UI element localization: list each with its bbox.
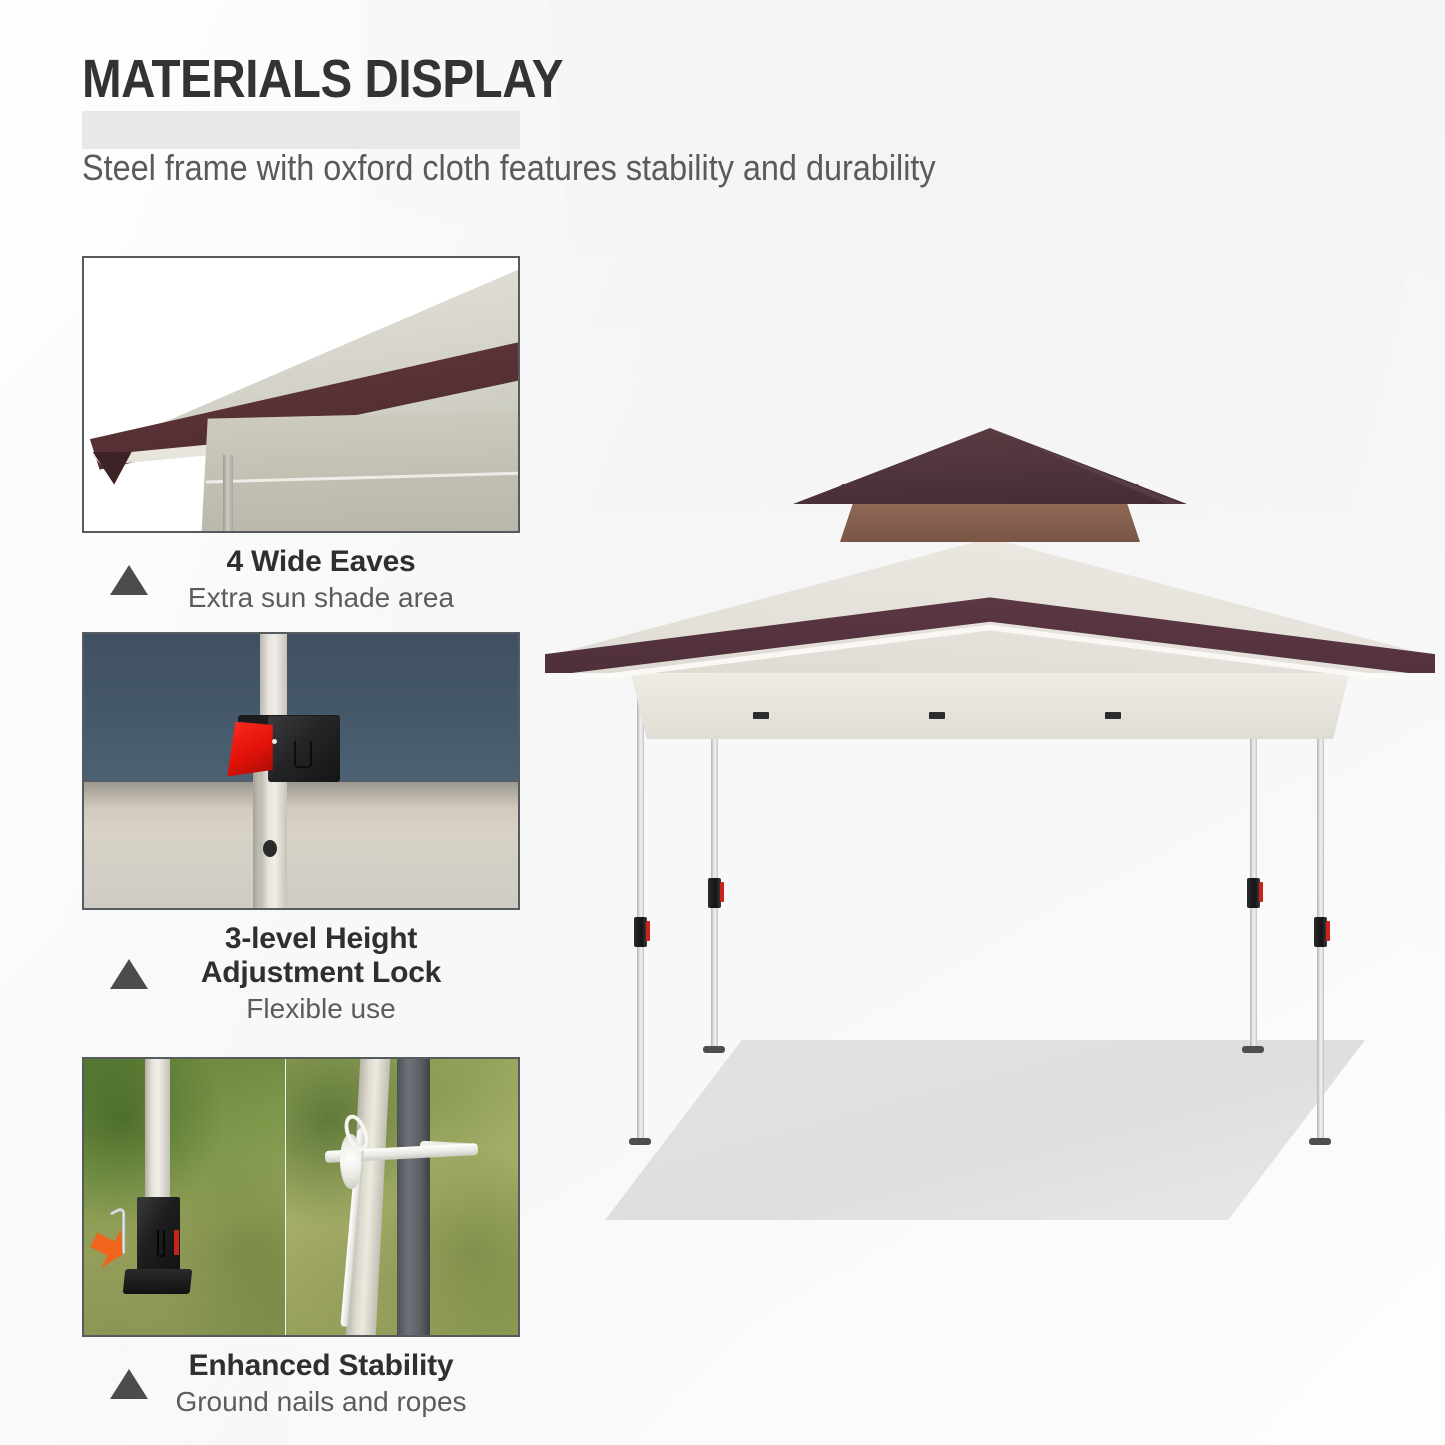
gazebo-leg-dark: [397, 1059, 430, 1335]
triangle-bullet-icon: [110, 959, 148, 989]
leg-front-right: [1317, 682, 1324, 1144]
caption-row: 4 Wide Eaves Extra sun shade area: [82, 545, 520, 615]
caption-text: 3-level Height Adjustment Lock Flexible …: [156, 922, 520, 1026]
leg-foot-front-left: [629, 1138, 651, 1145]
feature-title: Enhanced Stability: [156, 1349, 486, 1383]
valance-tab: [1105, 712, 1121, 719]
leg-foot-back-left: [703, 1046, 725, 1053]
leg-lock-clip-front-left: [634, 917, 647, 947]
canopy-eave-photo: [82, 256, 520, 533]
feature-height-lock: 3-level Height Adjustment Lock Flexible …: [82, 632, 520, 1026]
leg-lock-clip-back-left: [708, 878, 721, 908]
triangle-bullet-icon: [110, 1369, 148, 1399]
caption-row: Enhanced Stability Ground nails and rope…: [82, 1349, 520, 1419]
foot-bracket-slot: [157, 1230, 166, 1257]
height-lock-photo: [82, 632, 520, 910]
caption-row: 3-level Height Adjustment Lock Flexible …: [82, 922, 520, 1026]
leg-lock-clip-front-right: [1314, 917, 1327, 947]
feature-subtitle: Flexible use: [156, 992, 486, 1026]
rope-photo-half: [286, 1059, 518, 1335]
pole-adjustment-hole: [263, 840, 277, 857]
leg-front-left: [637, 682, 644, 1144]
gazebo-canopy: [545, 420, 1435, 740]
leg-foot-front-right: [1309, 1138, 1331, 1145]
valance-tab: [753, 712, 769, 719]
leg-foot-back-right: [1242, 1046, 1264, 1053]
page-title: MATERIALS DISPLAY: [82, 48, 962, 110]
page-subtitle: Steel frame with oxford cloth features s…: [82, 147, 936, 189]
lock-housing-slot: [294, 741, 312, 768]
triangle-bullet-icon: [110, 565, 148, 595]
leg-lock-clip-back-right: [1247, 878, 1260, 908]
ground-stake-icon: [110, 1175, 128, 1285]
canopy-valance: [201, 408, 520, 533]
ground-stake-rope-photo: [82, 1057, 520, 1337]
feature-title-line2: Adjustment Lock: [156, 956, 486, 990]
foot-red-release: [174, 1230, 179, 1255]
title-highlight-bar: [82, 111, 520, 149]
photo-ground-shadow: [84, 779, 518, 806]
infographic-canvas: MATERIALS DISPLAY Steel frame with oxfor…: [0, 0, 1445, 1445]
feature-subtitle: Ground nails and ropes: [156, 1385, 486, 1419]
feature-enhanced-stability: Enhanced Stability Ground nails and rope…: [82, 1057, 520, 1419]
canopy-valance-skirt: [617, 663, 1363, 739]
feature-title-line1: 3-level Height: [156, 922, 486, 956]
pop-up-gazebo-canopy: [545, 420, 1435, 1220]
valance-tab: [929, 712, 945, 719]
feature-wide-eaves: 4 Wide Eaves Extra sun shade area: [82, 256, 520, 615]
feature-subtitle: Extra sun shade area: [156, 581, 486, 615]
canopy-peak-roof: [793, 428, 1187, 504]
leg-base-plate: [123, 1269, 192, 1294]
canopy-support-pole: [223, 455, 233, 531]
feature-title: 4 Wide Eaves: [156, 545, 486, 579]
caption-text: Enhanced Stability Ground nails and rope…: [156, 1349, 520, 1419]
caption-text: 4 Wide Eaves Extra sun shade area: [156, 545, 520, 615]
stake-photo-half: [84, 1059, 286, 1335]
header: MATERIALS DISPLAY: [82, 48, 1082, 110]
